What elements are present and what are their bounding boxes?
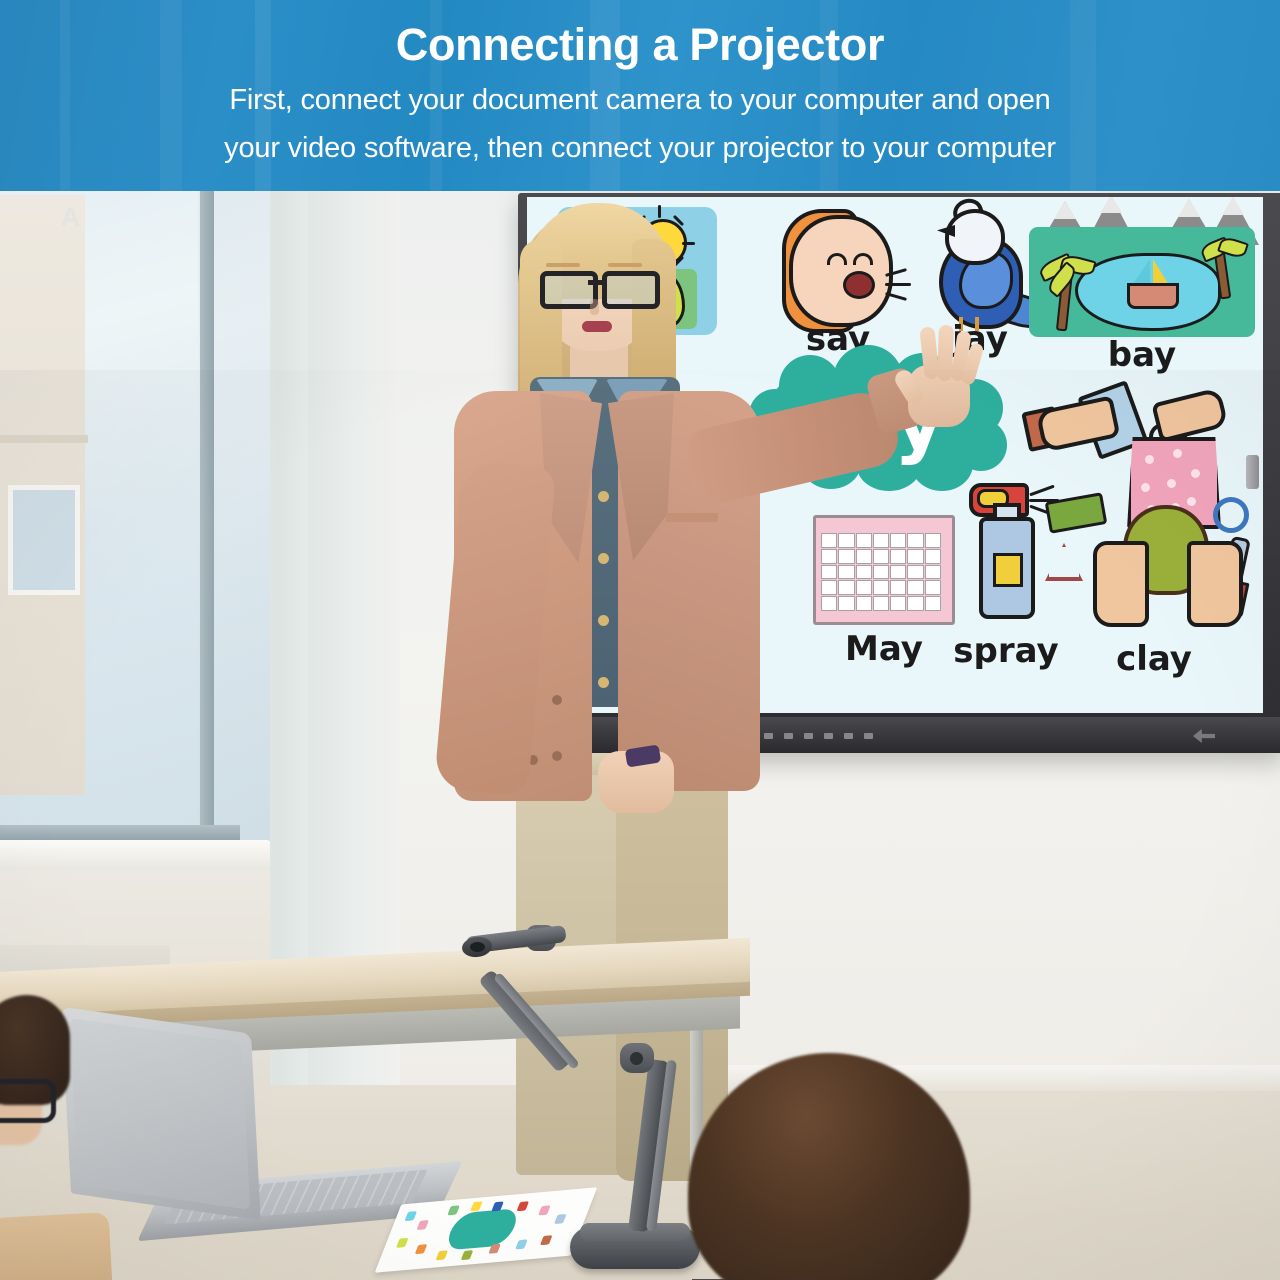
clay-ring-tool bbox=[1213, 497, 1249, 533]
window-glass bbox=[0, 185, 198, 825]
bird-head bbox=[945, 209, 1005, 265]
classroom-window bbox=[0, 185, 270, 865]
boat-hull bbox=[1127, 283, 1179, 309]
window-sill bbox=[0, 840, 270, 870]
hand-left bbox=[1093, 541, 1149, 627]
display-side-latch[interactable] bbox=[1246, 455, 1259, 489]
teacher-hand-right bbox=[898, 325, 978, 425]
glasses-icon bbox=[540, 271, 658, 301]
student-hair bbox=[688, 1053, 970, 1280]
word-label-clay: clay bbox=[1079, 639, 1229, 679]
student-left-glasses-icon bbox=[0, 1079, 56, 1123]
clay-triangle-tool bbox=[1045, 543, 1083, 581]
spray-bottle-label bbox=[993, 553, 1023, 587]
teacher-eyebrow-right bbox=[608, 263, 642, 267]
building-window bbox=[8, 485, 80, 595]
student-left bbox=[0, 995, 108, 1225]
window-mullion bbox=[200, 185, 214, 845]
teacher-lips bbox=[582, 321, 612, 332]
display-button[interactable] bbox=[844, 733, 853, 739]
page-title: Connecting a Projector bbox=[0, 22, 1280, 67]
building-ledge bbox=[0, 435, 88, 443]
header-banner: Connecting a Projector First, connect yo… bbox=[0, 0, 1280, 191]
teacher-nose bbox=[590, 299, 599, 315]
camera-upper-arm[interactable] bbox=[478, 969, 572, 1073]
hand-right bbox=[1187, 541, 1243, 627]
blazer-pocket bbox=[666, 513, 718, 522]
display-brand-logo bbox=[1193, 729, 1215, 743]
word-label-spray: spray bbox=[931, 631, 1081, 671]
hand-holding-bag bbox=[1151, 387, 1229, 443]
word-label-bay: bay bbox=[1067, 335, 1217, 375]
display-button[interactable] bbox=[824, 733, 833, 739]
classroom-photo: A bbox=[0, 185, 1280, 1280]
teacher-eyebrow-left bbox=[546, 263, 580, 267]
boat-sail bbox=[1132, 259, 1150, 285]
header-subtitle-line2: your video software, then connect your p… bbox=[0, 134, 1280, 163]
camera-lens-inner bbox=[470, 942, 485, 952]
calendar-grid bbox=[821, 533, 941, 611]
camera-upper-arm-edge bbox=[493, 972, 580, 1070]
watermark-logo: A bbox=[16, 195, 126, 241]
screenshot-root: A bbox=[0, 0, 1280, 1280]
display-power-button[interactable] bbox=[864, 733, 873, 739]
boat-sail bbox=[1153, 259, 1169, 285]
student-foreground bbox=[640, 1053, 1110, 1280]
header-subtitle-line1: First, connect your document camera to y… bbox=[0, 86, 1280, 115]
girl-mouth bbox=[843, 271, 875, 299]
